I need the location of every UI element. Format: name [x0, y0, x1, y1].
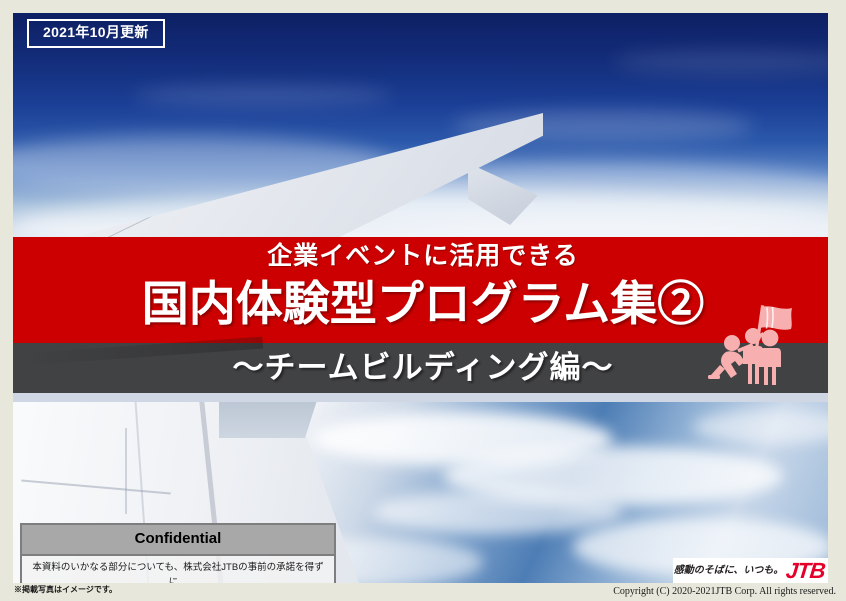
- jtb-tagline: 感動のそばに、いつも。: [674, 566, 784, 576]
- title-subtitle: 企業イベントに活用できる: [0, 241, 846, 271]
- copyright-text: Copyright (C) 2020-2021JTB Corp. All rig…: [613, 585, 836, 598]
- wing-flap: [219, 402, 319, 438]
- jtb-logo-mark: JTB: [785, 560, 826, 582]
- cloud: [373, 490, 623, 534]
- cloud-haze: [133, 85, 393, 107]
- update-date-badge: 2021年10月更新: [27, 19, 165, 48]
- cloud-haze: [613, 49, 828, 75]
- airplane-wing-sky-photo-top: [13, 13, 828, 244]
- cloud: [693, 410, 828, 444]
- team-with-flag-icon: [706, 303, 802, 389]
- slide-canvas: 2021年10月更新 企業イベントに活用できる 国内体験型プログラム集② 〜チー…: [0, 0, 846, 601]
- jtb-logo-block: 感動のそばに、いつも。 JTB: [673, 558, 828, 583]
- confidential-heading: Confidential: [22, 525, 334, 556]
- photo-disclaimer-note: ※掲載写真はイメージです。: [14, 585, 117, 595]
- wing-panel-line: [125, 428, 127, 514]
